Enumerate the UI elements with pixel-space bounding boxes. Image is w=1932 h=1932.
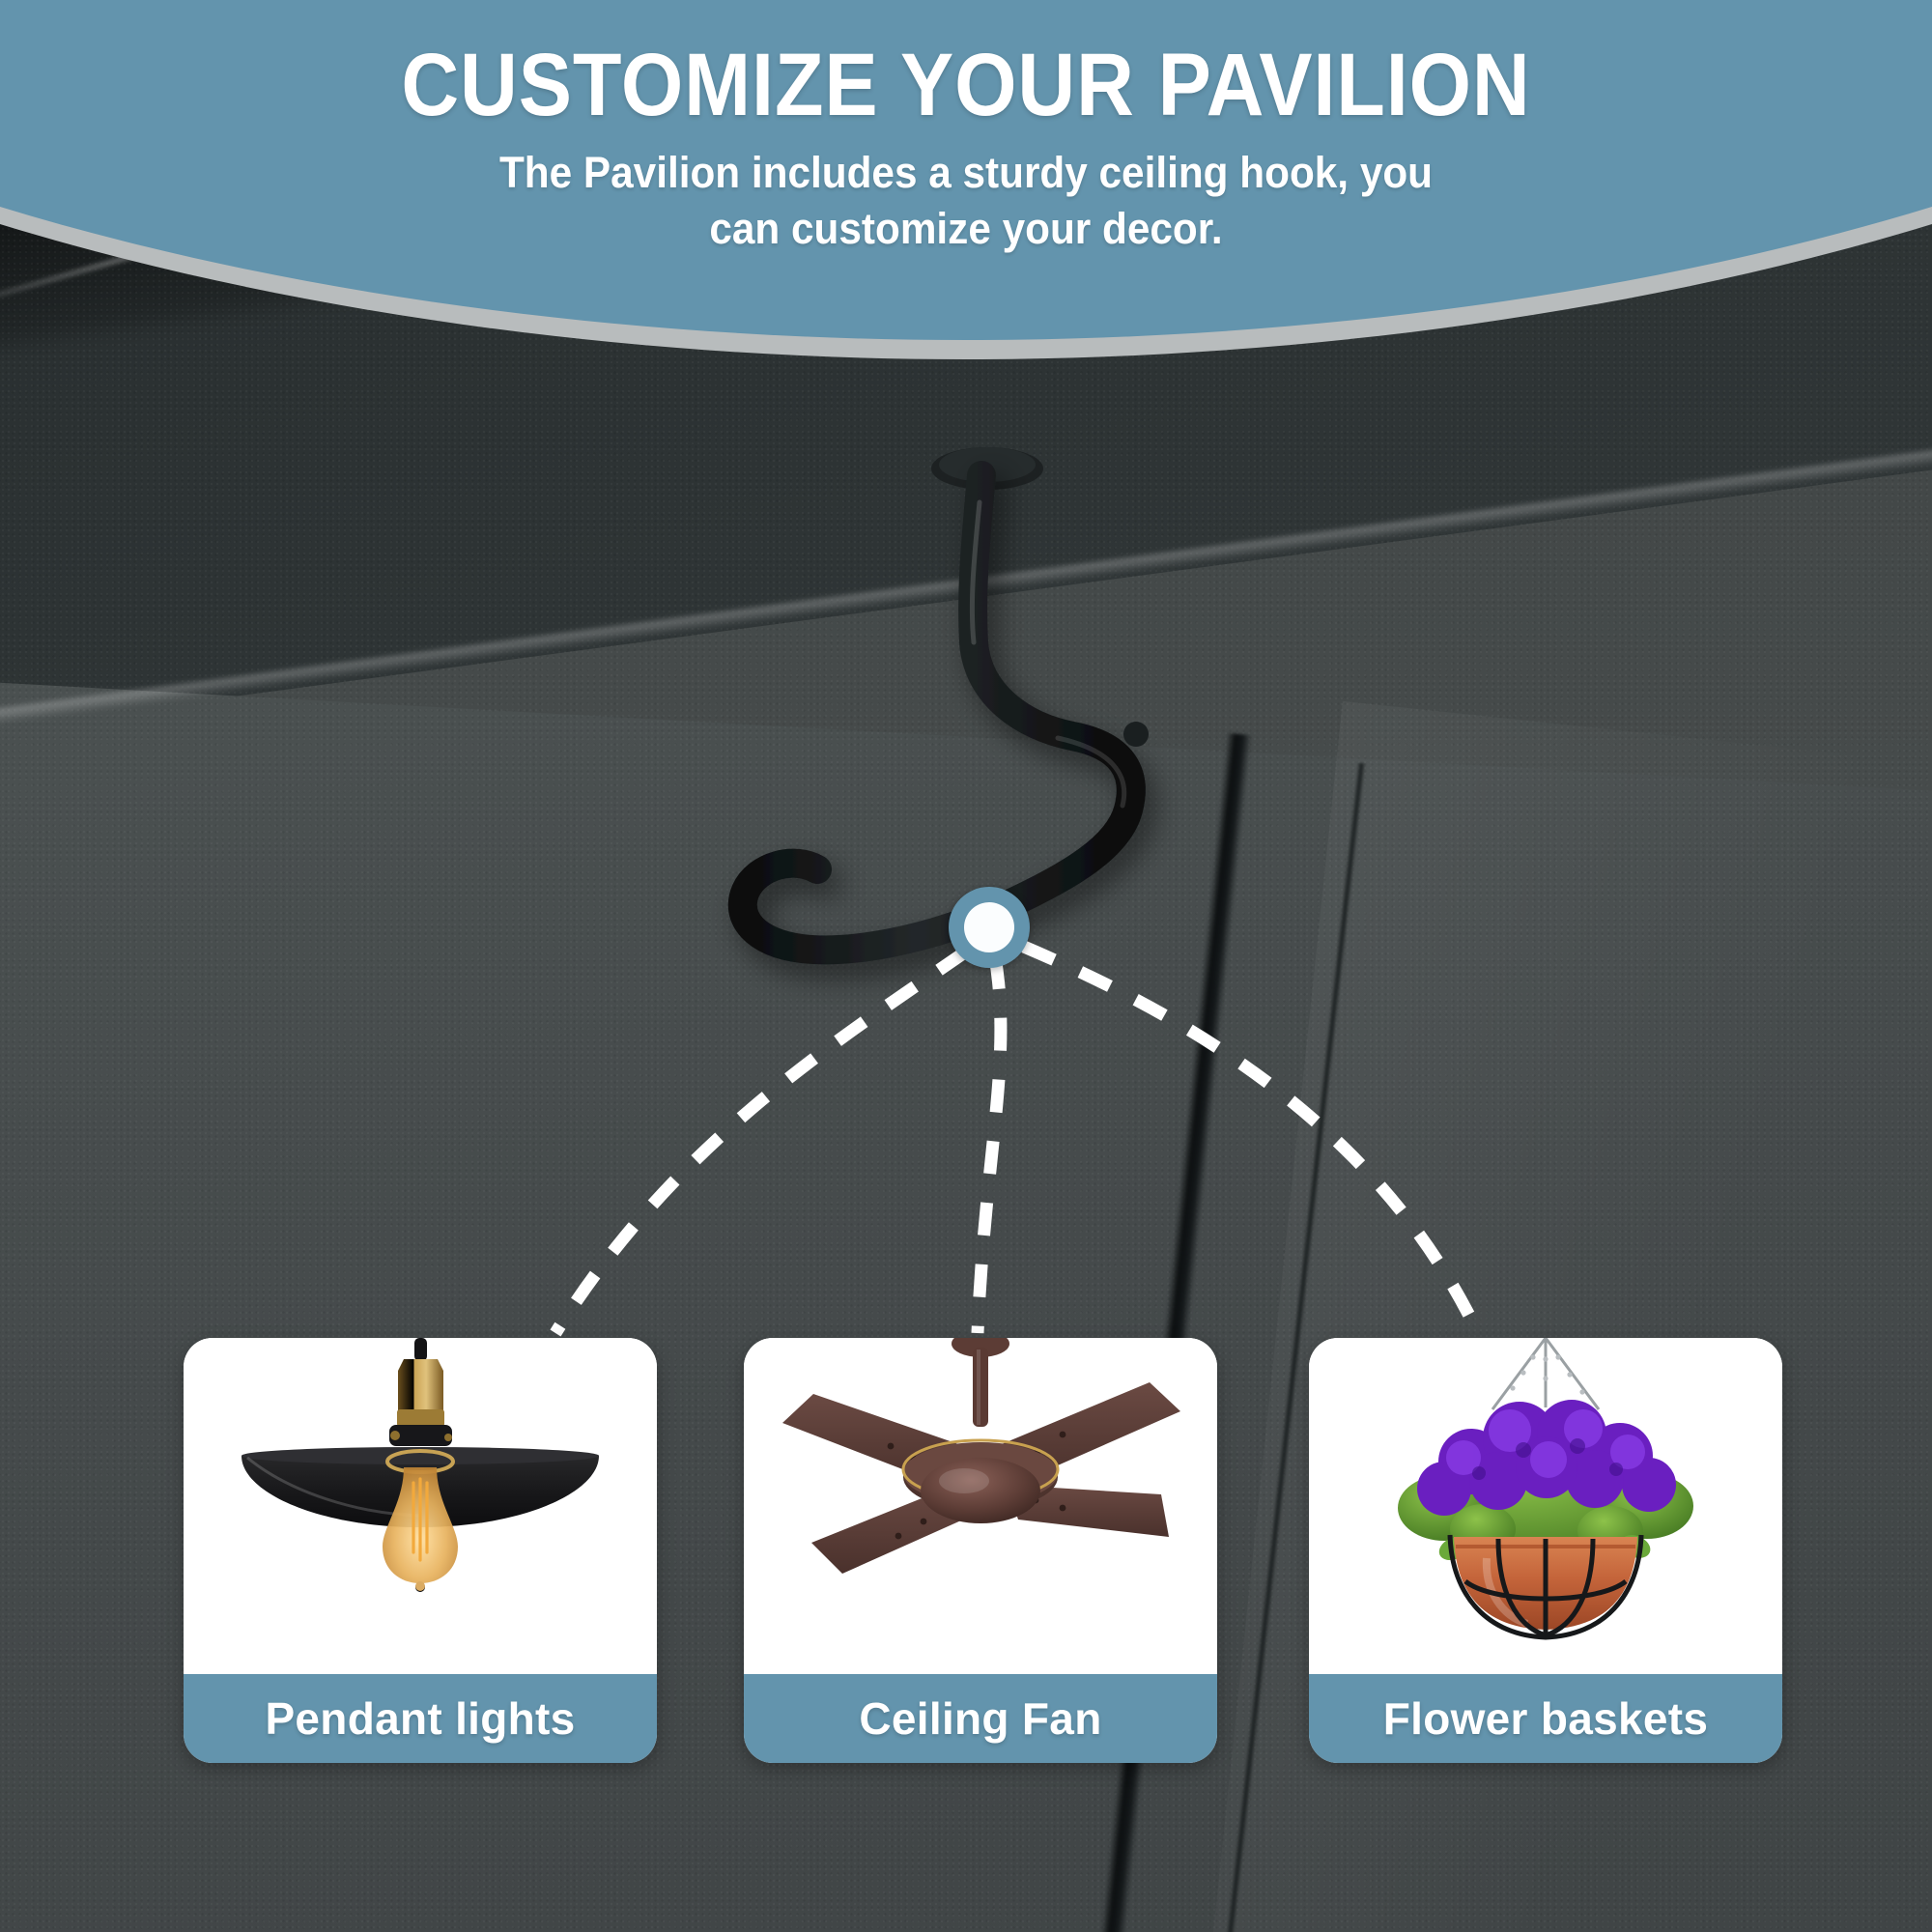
option-card-pendant-lights[interactable]: Pendant lights [184, 1338, 657, 1763]
hook-rod [743, 475, 1131, 950]
pendant-light-image [184, 1338, 657, 1674]
petunia-blooms [1417, 1400, 1676, 1516]
flower-basket-image [1309, 1338, 1782, 1674]
pendant-light-icon [184, 1338, 657, 1674]
card-label-pendant-lights: Pendant lights [184, 1674, 657, 1763]
ceiling-fan-image [744, 1338, 1217, 1674]
banner-shape [0, 0, 1932, 367]
hook-node-marker [949, 887, 1030, 968]
ceiling-fan-icon [744, 1338, 1217, 1674]
hook-node-center [964, 902, 1014, 952]
option-card-flower-baskets[interactable]: Flower baskets [1309, 1338, 1782, 1763]
pavilion-infographic: Pendant lights [0, 0, 1932, 1932]
option-card-ceiling-fan[interactable]: Ceiling Fan [744, 1338, 1217, 1763]
flower-basket-icon [1309, 1338, 1782, 1674]
card-label-ceiling-fan: Ceiling Fan [744, 1674, 1217, 1763]
basket-chains [1492, 1338, 1599, 1409]
header-banner: CUSTOMIZE YOUR PAVILION The Pavilion inc… [0, 0, 1932, 348]
card-label-flower-baskets: Flower baskets [1309, 1674, 1782, 1763]
hook-elbow-cap [1123, 722, 1149, 747]
